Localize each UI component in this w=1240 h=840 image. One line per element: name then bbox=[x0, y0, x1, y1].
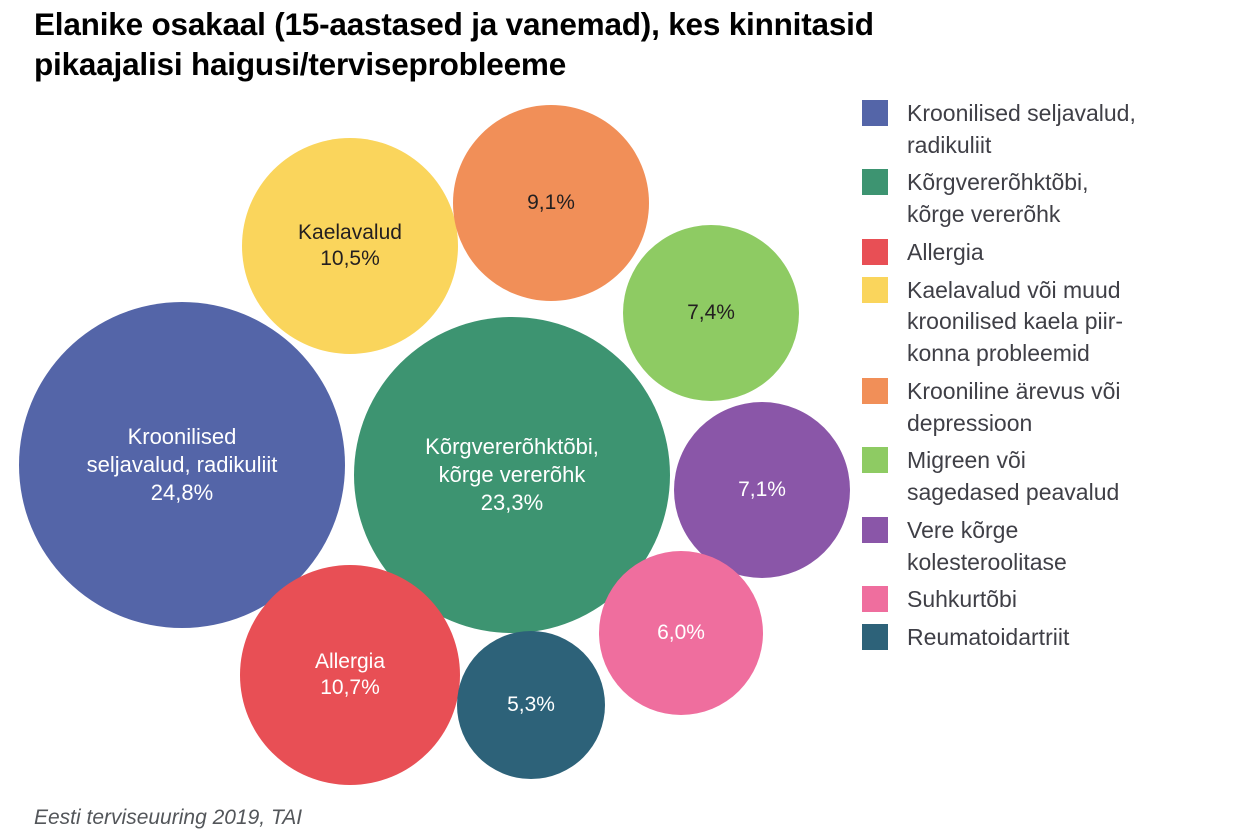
legend-item-label: Kroonilised seljavalud, radikuliit bbox=[907, 98, 1136, 161]
legend-item-label: Reumatoidartriit bbox=[907, 622, 1069, 654]
legend-item[interactable]: Kaelavalud või muud kroonilised kaela pi… bbox=[862, 275, 1240, 370]
legend-item[interactable]: Reumatoidartriit bbox=[862, 622, 1240, 654]
bubble-label: Kroonilised seljavalud, radikuliit 24,8% bbox=[81, 423, 284, 506]
bubble-reumatoidartriit[interactable]: 5,3% bbox=[457, 631, 605, 779]
legend-swatch-icon bbox=[862, 586, 888, 612]
legend-swatch-icon bbox=[862, 447, 888, 473]
legend-swatch-icon bbox=[862, 239, 888, 265]
legend-swatch-icon bbox=[862, 169, 888, 195]
bubble-label: Allergia 10,7% bbox=[309, 649, 391, 702]
legend: Kroonilised seljavalud, radikuliitKõrgve… bbox=[862, 98, 1240, 660]
legend-item[interactable]: Vere kõrge kolesteroolitase bbox=[862, 515, 1240, 578]
legend-item[interactable]: Kõrgvererõhktõbi, kõrge vererõhk bbox=[862, 167, 1240, 230]
legend-item-label: Vere kõrge kolesteroolitase bbox=[907, 515, 1067, 578]
bubble-migreen[interactable]: 7,4% bbox=[623, 225, 799, 401]
source-note: Eesti terviseuuring 2019, TAI bbox=[34, 806, 302, 830]
legend-item[interactable]: Kroonilised seljavalud, radikuliit bbox=[862, 98, 1240, 161]
legend-swatch-icon bbox=[862, 517, 888, 543]
bubble-label: 5,3% bbox=[501, 692, 561, 718]
legend-item-label: Kaelavalud või muud kroonilised kaela pi… bbox=[907, 275, 1123, 370]
bubble-label: 6,0% bbox=[651, 620, 711, 646]
bubble-suhkurtobi[interactable]: 6,0% bbox=[599, 551, 763, 715]
legend-item[interactable]: Migreen või sagedased peavalud bbox=[862, 445, 1240, 508]
bubble-kaelavalud[interactable]: Kaelavalud 10,5% bbox=[242, 138, 458, 354]
legend-swatch-icon bbox=[862, 100, 888, 126]
bubble-label: 9,1% bbox=[521, 190, 581, 216]
bubble-vere-korge-kolesteroolitase[interactable]: 7,1% bbox=[674, 402, 850, 578]
bubble-label: Kaelavalud 10,5% bbox=[292, 220, 408, 273]
page-title: Elanike osakaal (15-aastased ja vanemad)… bbox=[34, 4, 1144, 85]
legend-item-label: Suhkurtõbi bbox=[907, 584, 1017, 616]
bubble-allergia[interactable]: Allergia 10,7% bbox=[240, 565, 460, 785]
bubble-label: 7,1% bbox=[732, 477, 792, 503]
legend-item[interactable]: Suhkurtõbi bbox=[862, 584, 1240, 616]
legend-item[interactable]: Allergia bbox=[862, 237, 1240, 269]
legend-swatch-icon bbox=[862, 624, 888, 650]
legend-swatch-icon bbox=[862, 378, 888, 404]
bubble-chart: Kroonilised seljavalud, radikuliit 24,8%… bbox=[0, 90, 860, 800]
legend-item-label: Krooniline ärevus või depressioon bbox=[907, 376, 1121, 439]
legend-swatch-icon bbox=[862, 277, 888, 303]
bubble-krooniline-arevus[interactable]: 9,1% bbox=[453, 105, 649, 301]
legend-item[interactable]: Krooniline ärevus või depressioon bbox=[862, 376, 1240, 439]
bubble-label: 7,4% bbox=[681, 300, 741, 326]
legend-item-label: Migreen või sagedased peavalud bbox=[907, 445, 1119, 508]
legend-item-label: Kõrgvererõhktõbi, kõrge vererõhk bbox=[907, 167, 1089, 230]
legend-item-label: Allergia bbox=[907, 237, 984, 269]
bubble-label: Kõrgvererõhktõbi, kõrge vererõhk 23,3% bbox=[419, 433, 605, 516]
